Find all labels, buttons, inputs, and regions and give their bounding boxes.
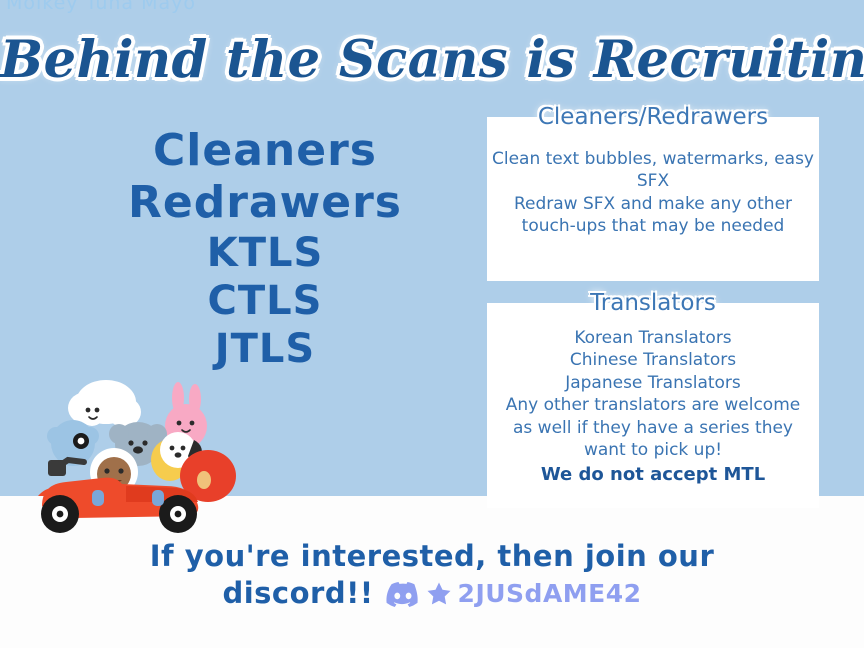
page-title: Behind the Scans is Recruiting!!!: [0, 30, 864, 90]
panel-line: Korean Translators: [487, 327, 819, 349]
panel-line: Chinese Translators: [487, 349, 819, 371]
characters-on-red-scooter-illustration: [18, 368, 250, 538]
cta-line-1: If you're interested, then join our: [0, 538, 864, 575]
roles-list: Cleaners Redrawers KTLS CTLS JTLS: [110, 128, 420, 376]
panel-body-translators: Korean Translators Chinese Translators J…: [487, 327, 819, 486]
panel-line: Clean text bubbles, watermarks, easy: [487, 148, 819, 170]
discord-handle-group[interactable]: 2JUSdAME42: [386, 578, 642, 610]
recruitment-poster: Moikey Tuna Mayo Behind the Scans is Rec…: [0, 0, 864, 648]
role-item-ktls: KTLS: [110, 232, 420, 274]
panel-line: touch-ups that may be needed: [487, 215, 819, 237]
panel-line: Redraw SFX and make any other: [487, 193, 819, 215]
call-to-action: If you're interested, then join our disc…: [0, 538, 864, 612]
role-item-ctls: CTLS: [110, 280, 420, 322]
discord-logo-icon: [386, 581, 420, 607]
panel-line: Japanese Translators: [487, 372, 819, 394]
panel-line: as well if they have a series they: [487, 417, 819, 439]
panel-line: SFX: [487, 170, 819, 192]
panel-line: Any other translators are welcome: [487, 394, 819, 416]
panel-heading-cleaners-redrawers: Cleaners/Redrawers: [487, 104, 819, 130]
cta-line-2-text: discord!!: [222, 575, 373, 612]
role-item-jtls: JTLS: [110, 328, 420, 370]
panel-line: want to pick up!: [487, 439, 819, 461]
panel-heading-translators: Translators: [487, 290, 819, 316]
cta-line-2-row: discord!! 2JUSdAME42: [0, 575, 864, 612]
role-item-redrawers: Redrawers: [110, 180, 420, 226]
panel-emphasis-line: We do not accept MTL: [487, 463, 819, 487]
panel-body-cleaners-redrawers: Clean text bubbles, watermarks, easy SFX…: [487, 148, 819, 238]
role-item-cleaners: Cleaners: [110, 128, 420, 174]
discord-handle-text: 2JUSdAME42: [458, 578, 642, 610]
star-icon: [426, 581, 452, 607]
watermark-text: Moikey Tuna Mayo: [6, 0, 196, 14]
